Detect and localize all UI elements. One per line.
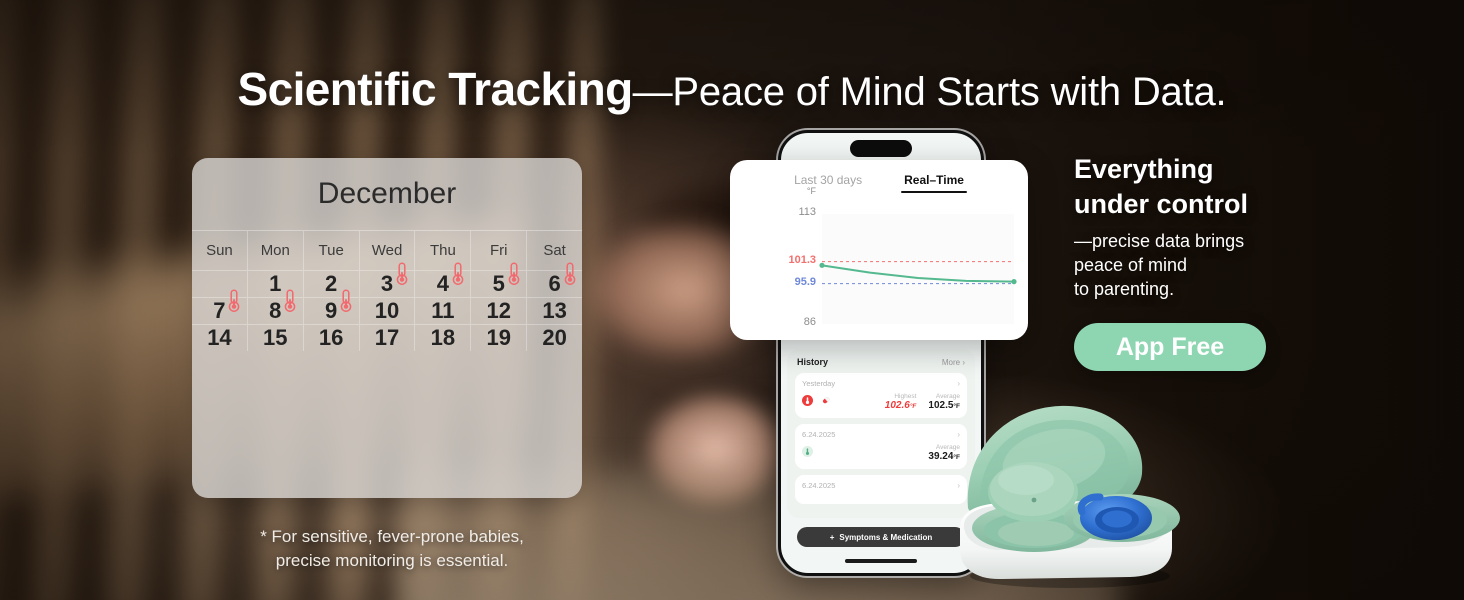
value-prop-subtext: —precise data brings peace of mind to pa… [1074,230,1364,301]
history-more-button[interactable]: More › [942,358,965,367]
temperature-unit: °F [910,403,917,410]
chart-tab-real-time[interactable]: Real–Time [904,173,964,193]
calendar-day-14[interactable]: 14 [192,325,248,351]
calendar-day-7[interactable]: 7 [192,298,248,324]
calendar-day-15[interactable]: 15 [248,325,304,351]
calendar-day-12[interactable]: 12 [471,298,527,324]
value-prop-sub-line3: to parenting. [1074,278,1364,302]
calendar-day-label: 14 [207,325,231,351]
temperature-chart-card: Last 30 daysReal–Time °F11386101.395.9 [730,160,1028,340]
calendar-day-13[interactable]: 13 [527,298,582,324]
calendar-weekday-header: SunMonTueWedThuFriSat [192,230,582,270]
history-item-body: Average39.24°F [802,444,960,462]
calendar-day-label: 12 [486,298,510,324]
app-free-button[interactable]: App Free [1074,323,1266,371]
calendar-day-label: 1 [269,271,281,297]
history-more-label: More [942,358,960,367]
thermometer-icon [563,262,577,286]
calendar-day-5[interactable]: 5 [471,271,527,297]
calendar-day-10[interactable]: 10 [360,298,416,324]
calendar-week-row: 123456 [192,270,582,297]
calendar-weekday-sun: Sun [192,231,248,270]
headline-light: —Peace of Mind Starts with Data. [633,70,1227,114]
calendar-day-label: 16 [319,325,343,351]
history-item-date: 6.24.2025 [802,481,835,490]
calendar-day-20[interactable]: 20 [527,325,582,351]
phone-notch [850,140,912,157]
thermometer-icon [507,262,521,286]
earbud-sensor-disc [988,462,1078,522]
calendar-month-label: December [192,158,582,230]
calendar-day-17[interactable]: 17 [360,325,416,351]
thermometer-case-product-image [950,400,1180,590]
footnote: * For sensitive, fever-prone babies, pre… [192,525,592,573]
calendar-day-label: 10 [375,298,399,324]
history-item-header: 6.24.2025› [802,481,960,490]
footnote-line1: * For sensitive, fever-prone babies, [192,525,592,549]
history-value-label: Average [928,393,960,400]
calendar-day-16[interactable]: 16 [304,325,360,351]
calendar-footer-spacer [192,351,582,381]
calendar-day-label: 17 [375,325,399,351]
calendar-day-18[interactable]: 18 [415,325,471,351]
history-value-highest: Highest102.6°F [885,393,917,411]
chart-ytick-86: 86 [804,316,816,328]
calendar-day-label: 19 [486,325,510,351]
calendar-day-label: 11 [431,298,454,324]
value-prop-heading-line1: Everything [1074,152,1364,187]
calendar-day-label: 6 [548,271,560,297]
calendar-week-row: 78910111213 [192,297,582,324]
home-indicator [845,559,917,563]
chart-plot-area [822,202,1014,334]
history-item[interactable]: Yesterday›Highest102.6°FAverage102.5°F [795,373,967,418]
chevron-right-icon: › [962,358,965,367]
page-title: Scientific Tracking—Peace of Mind Starts… [0,62,1464,116]
history-item-header: 6.24.2025› [802,430,960,439]
calendar-day-label: 8 [269,298,281,324]
history-list: Yesterday›Highest102.6°FAverage102.5°F6.… [795,373,967,504]
calendar-weekday-tue: Tue [304,231,360,270]
calendar-panel: December SunMonTueWedThuFriSat 123456789… [192,158,582,498]
case-illustration [950,400,1180,590]
calendar-weekday-mon: Mon [248,231,304,270]
value-prop-sub-line1: —precise data brings [1074,230,1364,254]
history-item-date: 6.24.2025 [802,430,835,439]
calendar-day-label: 9 [325,298,337,324]
thermometer-icon [283,289,297,313]
calendar-day-label: 20 [542,325,566,351]
history-title: History [797,357,828,367]
chart-tab-bar: Last 30 daysReal–Time [730,160,1028,193]
headline-strong: Scientific Tracking [238,63,633,115]
calendar-day-6[interactable]: 6 [527,271,582,297]
history-item-header: Yesterday› [802,379,960,388]
chart-plot: °F11386101.395.9 [730,202,1028,340]
history-header: History More › [795,355,967,373]
thermometer-icon [339,289,353,313]
history-item-icons [802,393,832,411]
symptoms-medication-button[interactable]: + Symptoms & Medication [797,527,965,547]
ring-sensor-blue [1080,496,1152,540]
chart-ytick-113: 113 [798,206,816,218]
calendar-day-label: 2 [325,271,337,297]
history-value-number: 102.6°F [885,400,917,411]
history-card: History More › Yesterday›Highest102.6°FA… [787,349,975,518]
thermometer-icon [227,289,241,313]
calendar-day-label: 13 [542,298,566,324]
calendar-day-label: 15 [263,325,287,351]
history-item-body: Highest102.6°FAverage102.5°F [802,393,960,411]
value-prop-sub-line2: peace of mind [1074,254,1364,278]
chevron-right-icon[interactable]: › [957,379,960,388]
calendar-day-label: 18 [431,325,455,351]
thermometer-red-icon [802,393,813,411]
calendar-day-label: 4 [437,271,449,297]
calendar-day-9[interactable]: 9 [304,298,360,324]
thermometer-icon [451,262,465,286]
calendar-day-4[interactable]: 4 [415,271,471,297]
calendar-day-8[interactable]: 8 [248,298,304,324]
value-prop-block: Everything under control —precise data b… [1074,152,1364,371]
history-item[interactable]: 6.24.2025› [795,475,967,504]
calendar-day-label: 3 [381,271,393,297]
plus-icon: + [830,533,835,542]
symptoms-medication-label: Symptoms & Medication [839,533,932,542]
calendar-week-row: 14151617181920 [192,324,582,351]
history-item-date: Yesterday [802,379,835,388]
history-item-values: Highest102.6°FAverage102.5°F [885,393,960,411]
chart-ytick-95.9: 95.9 [795,276,816,288]
calendar-day-label: 7 [213,298,225,324]
chart-tab-last-30-days[interactable]: Last 30 days [794,173,862,193]
calendar-grid: 1234567891011121314151617181920 [192,270,582,351]
history-item-icons [802,444,813,462]
calendar-day-3[interactable]: 3 [360,271,416,297]
history-value-label: Highest [885,393,917,400]
chart-ytick-101.3: 101.3 [788,254,816,266]
pill-icon [820,393,832,411]
footnote-line2: precise monitoring is essential. [192,549,592,573]
calendar-day-label: 5 [493,271,505,297]
thermometer-green-icon [802,444,813,462]
calendar-day-19[interactable]: 19 [471,325,527,351]
history-item[interactable]: 6.24.2025›Average39.24°F [795,424,967,469]
thermometer-icon [395,262,409,286]
calendar-day-11[interactable]: 11 [415,298,471,324]
value-prop-heading-line2: under control [1074,187,1364,222]
value-prop-heading: Everything under control [1074,152,1364,222]
chart-unit-label: °F [807,186,816,196]
